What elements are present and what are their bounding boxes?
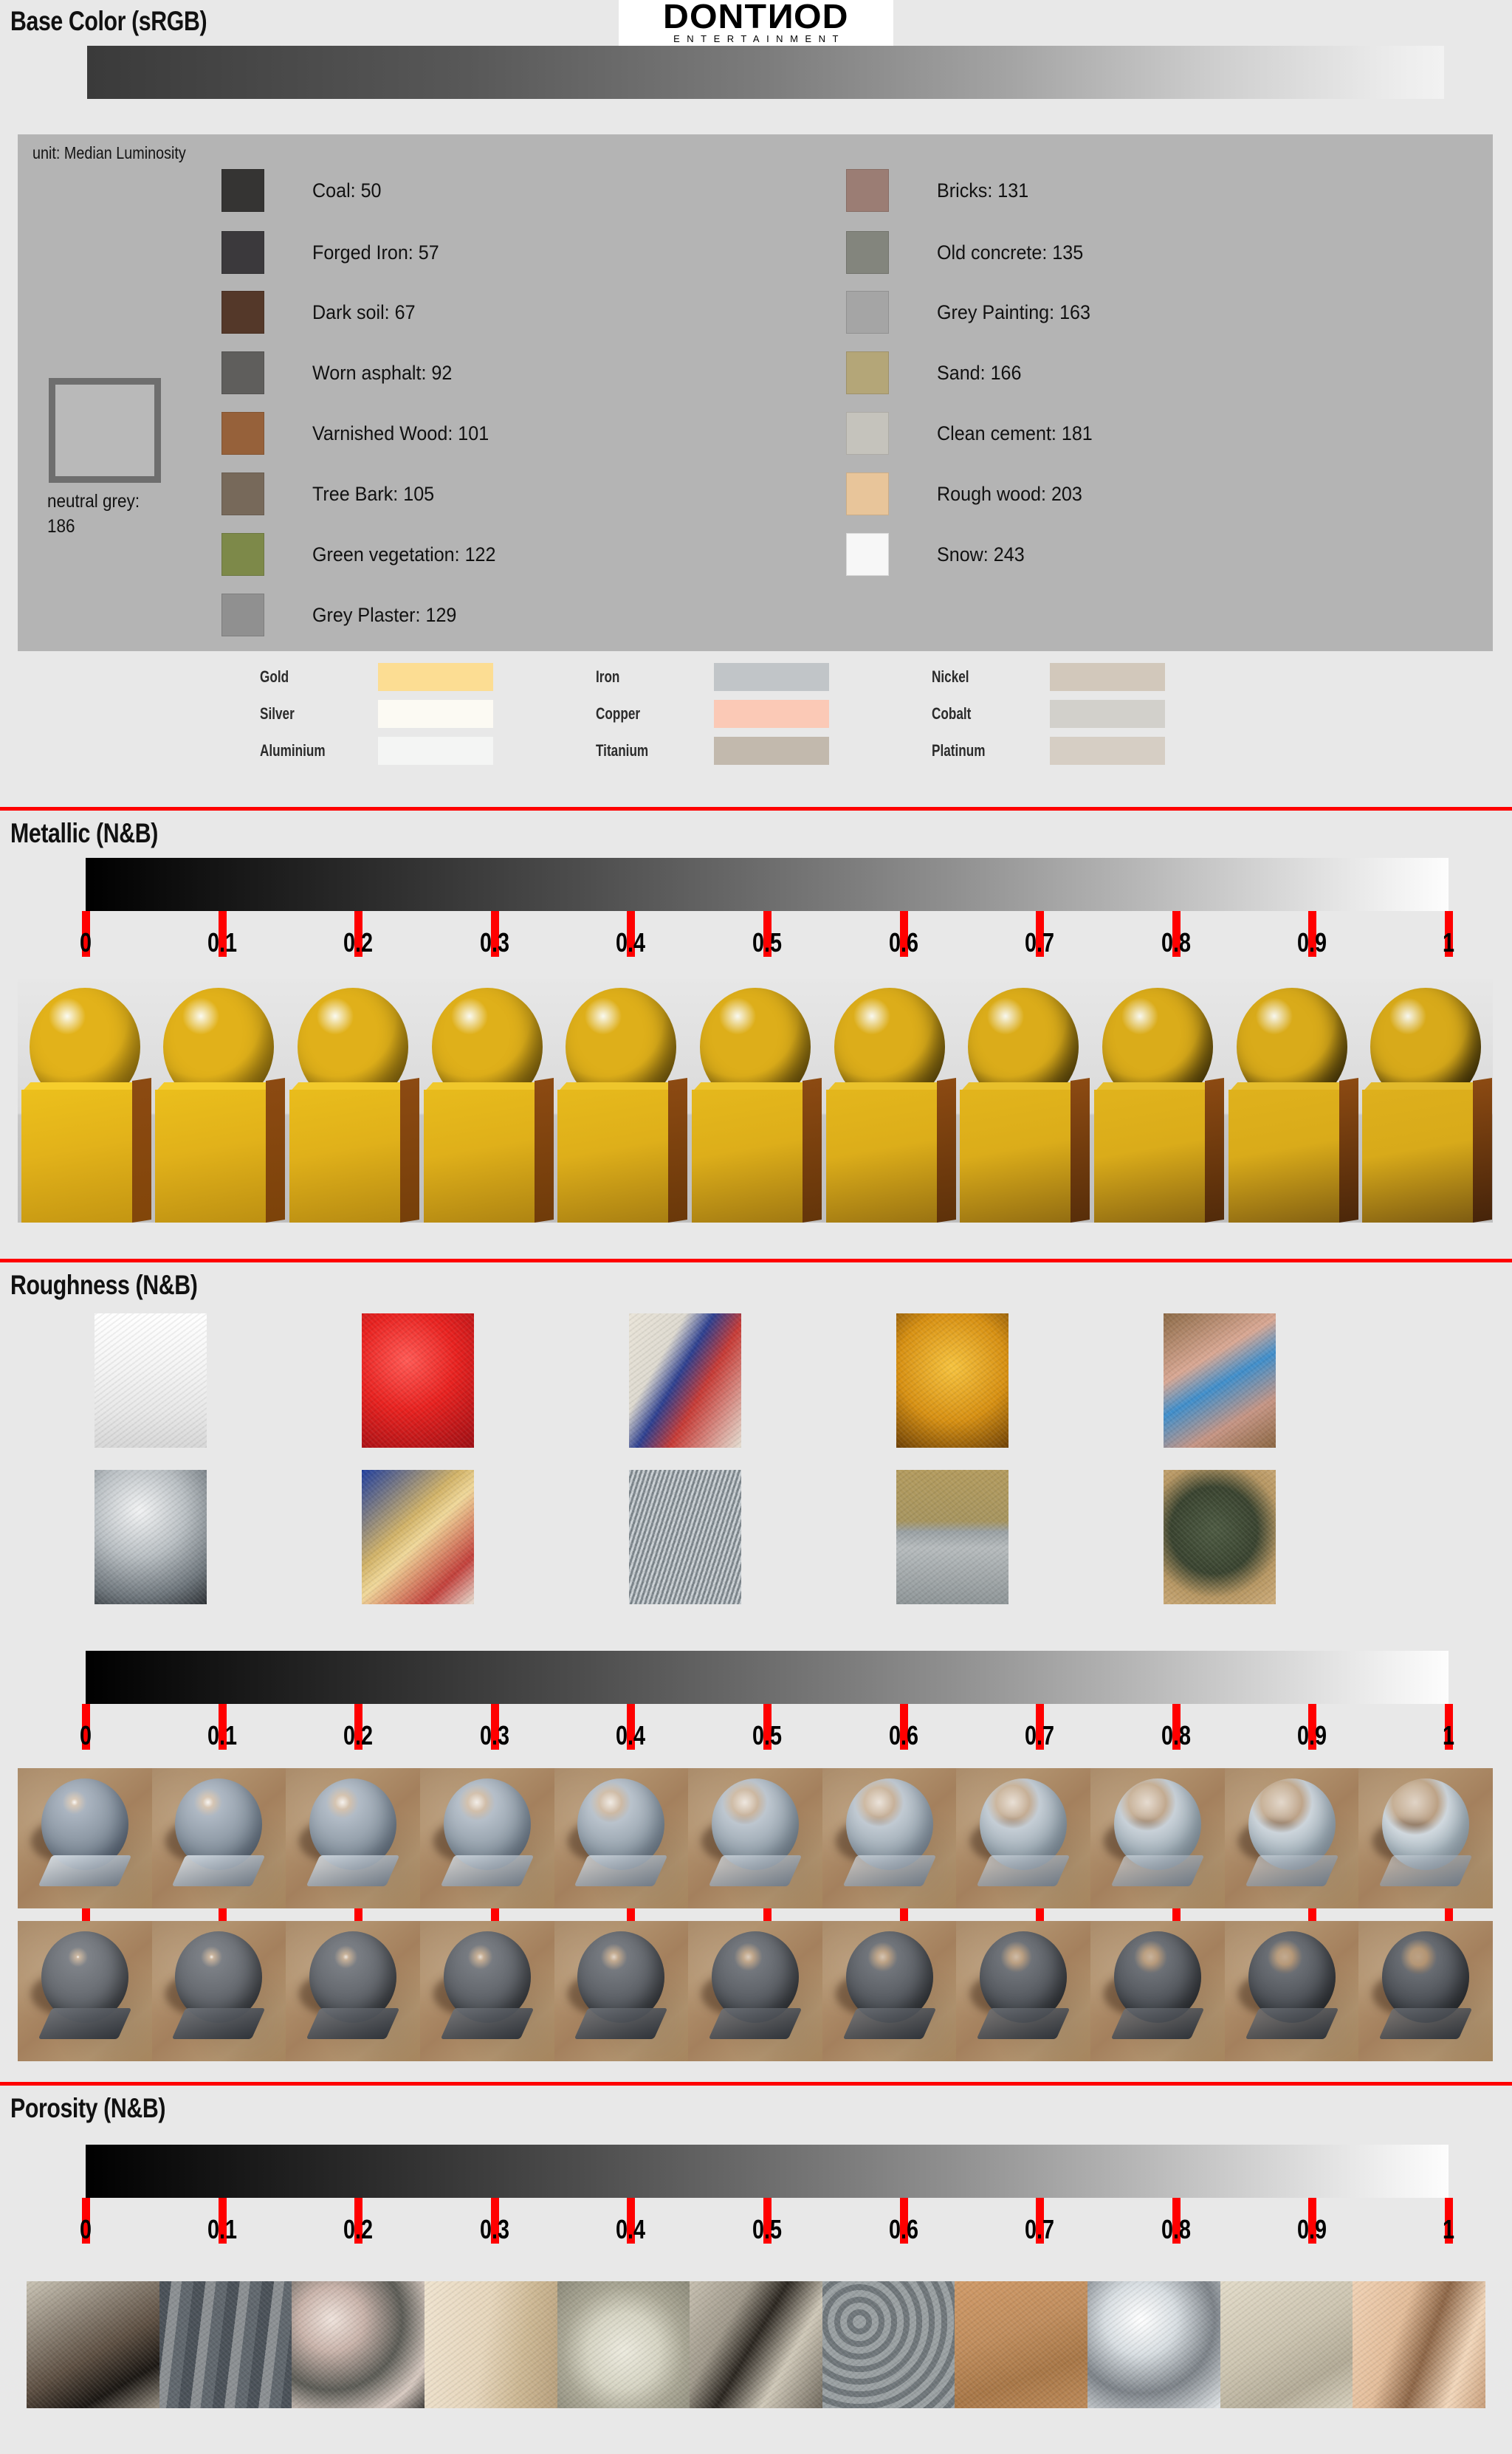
metallic-cube: [1362, 1090, 1489, 1223]
metallic-cube: [155, 1090, 282, 1223]
material-preview-plate: [1111, 2008, 1205, 2039]
scale-tick-label: 0.4: [616, 2214, 645, 2245]
roughness-non-metallic-sample: [1358, 1921, 1493, 2061]
material-preview-plate: [38, 2008, 131, 2039]
metallic-cube: [21, 1090, 148, 1223]
base-color-panel: unit: Median Luminosity neutral grey:186…: [18, 134, 1493, 651]
photo-grain: [292, 2281, 425, 2408]
roughness-non-metallic-sample: [1225, 1921, 1359, 2061]
roughness-scale-ticks: 00.10.20.30.40.50.60.70.80.91: [0, 1704, 1512, 1762]
roughness-metallic-sample: [554, 1768, 689, 1908]
metallic-cube: [424, 1090, 551, 1223]
section-title-roughness: Roughness (N&B): [10, 1270, 197, 1301]
porosity-reference-photo: [955, 2281, 1087, 2408]
roughness-non-metallic-sample: [152, 1921, 286, 2061]
metal-label: Titanium: [596, 741, 688, 760]
porosity-reference-photo: [557, 2281, 690, 2408]
cube-front-face: [692, 1090, 803, 1223]
section-title-metallic: Metallic (N&B): [10, 818, 158, 849]
photo-grain: [1353, 2281, 1485, 2408]
material-preview-plate: [172, 1855, 266, 1886]
roughness-reference-photo: [629, 1470, 741, 1604]
scale-tick-label: 0.9: [1297, 1720, 1327, 1751]
cube-front-face: [960, 1090, 1071, 1223]
scale-tick-label: 1: [1443, 927, 1454, 958]
base-color-item-dark-soil: Dark soil: 67: [221, 292, 423, 333]
metal-cobalt: Cobalt: [932, 700, 1165, 728]
metallic-cube: [1094, 1090, 1221, 1223]
material-preview-plate: [1111, 1855, 1205, 1886]
porosity-photo-strip: [27, 2281, 1485, 2408]
scale-tick-label: 0.6: [889, 1720, 918, 1751]
photo-grain: [425, 2281, 557, 2408]
section-title-porosity: Porosity (N&B): [10, 2093, 165, 2124]
metallic-sample-cell: [688, 979, 822, 1223]
roughness-metallic-sample: [152, 1768, 286, 1908]
base-color-item-varnished-wood: Varnished Wood: 101: [221, 413, 502, 454]
color-chip: [846, 412, 889, 455]
roughness-reference-photo: [896, 1470, 1008, 1604]
pbr-reference-sheet: DONTNOD ENTERTAINMENT Base Color (sRGB) …: [0, 0, 1512, 2454]
roughness-non-metallic-sample: [688, 1921, 822, 2061]
material-preview-plate: [574, 2008, 668, 2039]
porosity-reference-photo: [425, 2281, 557, 2408]
base-color-label: Grey Plaster: 129: [312, 604, 456, 627]
base-color-gradient-bar: [87, 46, 1444, 99]
metal-aluminium: Aluminium: [260, 737, 493, 765]
scale-tick-label: 0.7: [1025, 1720, 1054, 1751]
metal-chip: [378, 700, 493, 728]
cube-front-face: [1228, 1090, 1339, 1223]
photo-grain: [1164, 1470, 1276, 1604]
base-color-label: Sand: 166: [937, 362, 1021, 385]
scale-tick-label: 0.3: [480, 927, 509, 958]
roughness-metallic-sample: [688, 1768, 822, 1908]
photo-grain: [629, 1470, 741, 1604]
metallic-cube: [557, 1090, 684, 1223]
base-color-label: Bricks: 131: [937, 179, 1028, 202]
scale-tick-label: 0.8: [1161, 927, 1191, 958]
color-chip: [846, 351, 889, 394]
metallic-scale-ticks: 00.10.20.30.40.50.60.70.80.91: [0, 911, 1512, 969]
photo-grain: [557, 2281, 690, 2408]
scale-tick-label: 0.8: [1161, 2214, 1191, 2245]
roughness-reference-photo: [896, 1313, 1008, 1448]
cube-side-face: [1071, 1078, 1090, 1223]
material-preview-plate: [172, 2008, 266, 2039]
photo-grain: [955, 2281, 1087, 2408]
color-chip: [221, 412, 264, 455]
neutral-grey-label: neutral grey:186: [47, 489, 173, 539]
neutral-grey-swatch: [49, 378, 161, 483]
roughness-non-metallic-sample: [1090, 1921, 1225, 2061]
metal-titanium: Titanium: [596, 737, 829, 765]
cube-side-face: [266, 1078, 285, 1223]
material-preview-plate: [306, 2008, 400, 2039]
material-preview-plate: [38, 1855, 131, 1886]
metallic-gradient-bar: [86, 858, 1449, 911]
logo-wordmark: DONTNOD: [663, 0, 849, 32]
metal-chip: [378, 737, 493, 765]
roughness-non-metallic-sample: [286, 1921, 420, 2061]
logo-word-left: DONT: [663, 0, 767, 35]
metal-nickel: Nickel: [932, 663, 1165, 691]
porosity-gradient-bar: [86, 2145, 1449, 2198]
scale-tick-label: 0.5: [752, 1720, 782, 1751]
scale-tick-label: 1: [1443, 2214, 1454, 2245]
metallic-sample-cell: [1225, 979, 1359, 1223]
material-preview-plate: [1379, 1855, 1473, 1886]
cube-front-face: [21, 1090, 132, 1223]
photo-grain: [362, 1470, 474, 1604]
scale-tick-label: 0: [80, 2214, 92, 2245]
photo-grain: [94, 1313, 207, 1448]
roughness-gradient-bar: [86, 1651, 1449, 1704]
metallic-render-strip: [18, 979, 1493, 1223]
photo-grain: [629, 1313, 741, 1448]
color-chip: [221, 594, 264, 636]
scale-tick-label: 0.9: [1297, 2214, 1327, 2245]
porosity-reference-photo: [27, 2281, 159, 2408]
material-preview-plate: [709, 2008, 803, 2039]
scale-tick-label: 0.1: [207, 2214, 237, 2245]
material-preview-plate: [574, 1855, 668, 1886]
roughness-metallic-strip: Metallic: [18, 1768, 1493, 1908]
cube-front-face: [1094, 1090, 1205, 1223]
metal-chip: [1050, 737, 1165, 765]
metal-chip: [378, 663, 493, 691]
material-preview-plate: [440, 2008, 534, 2039]
roughness-non-metallic-sample: [554, 1921, 689, 2061]
roughness-non-metallic-sample: [18, 1921, 152, 2061]
cube-front-face: [424, 1090, 535, 1223]
base-color-item-sand: Sand: 166: [846, 352, 1028, 393]
base-color-item-tree-bark: Tree Bark: 105: [221, 473, 444, 515]
material-preview-plate: [842, 2008, 936, 2039]
roughness-metallic-sample: [286, 1768, 420, 1908]
scale-tick-label: 0.7: [1025, 927, 1054, 958]
metal-label: Gold: [260, 667, 352, 687]
metal-chip: [714, 737, 829, 765]
material-preview-plate: [440, 1855, 534, 1886]
porosity-reference-photo: [1087, 2281, 1220, 2408]
roughness-reference-photo: [94, 1313, 207, 1448]
roughness-reference-photo: [362, 1313, 474, 1448]
metallic-sample-cell: [1090, 979, 1225, 1223]
roughness-metallic-sample: [1358, 1768, 1493, 1908]
material-preview-plate: [842, 1855, 936, 1886]
cube-front-face: [826, 1090, 937, 1223]
photo-grain: [896, 1313, 1008, 1448]
section-divider-porosity: [0, 2082, 1512, 2086]
metal-reference-grid: Gold Silver Aluminium Iron Copper Titani…: [260, 663, 1220, 771]
material-preview-plate: [1245, 2008, 1339, 2039]
porosity-reference-photo: [1353, 2281, 1485, 2408]
cube-front-face: [155, 1090, 266, 1223]
metallic-sample-cell: [956, 979, 1090, 1223]
scale-tick-label: 0.4: [616, 927, 645, 958]
base-color-label: Dark soil: 67: [312, 301, 416, 324]
roughness-reference-photo: [94, 1470, 207, 1604]
metallic-cube: [289, 1090, 416, 1223]
material-preview-plate: [306, 1855, 400, 1886]
base-color-item-bricks: Bricks: 131: [846, 170, 1036, 211]
porosity-reference-photo: [690, 2281, 822, 2408]
color-chip: [221, 291, 264, 334]
base-color-label: Snow: 243: [937, 543, 1025, 566]
scale-tick-label: 0.2: [343, 1720, 373, 1751]
scale-tick-label: 0.6: [889, 927, 918, 958]
base-color-item-coal: Coal: 50: [221, 170, 387, 211]
metal-chip: [1050, 700, 1165, 728]
roughness-non-metallic-strip: Non metallic: [18, 1921, 1493, 2061]
metal-silver: Silver: [260, 700, 493, 728]
photo-grain: [94, 1470, 207, 1604]
color-chip: [221, 351, 264, 394]
photo-grain: [690, 2281, 822, 2408]
photo-grain: [27, 2281, 159, 2408]
color-chip: [846, 533, 889, 576]
metallic-cube: [960, 1090, 1087, 1223]
cube-side-face: [937, 1078, 956, 1223]
porosity-reference-photo: [292, 2281, 425, 2408]
scale-tick-label: 0.2: [343, 2214, 373, 2245]
metal-label: Silver: [260, 704, 352, 724]
base-color-item-clean-cement: Clean cement: 181: [846, 413, 1104, 454]
metallic-sample-cell: [420, 979, 554, 1223]
roughness-non-metallic-sample: [822, 1921, 957, 2061]
metallic-cube: [826, 1090, 953, 1223]
base-color-item-old-concrete: Old concrete: 135: [846, 232, 1094, 273]
base-color-label: Coal: 50: [312, 179, 382, 202]
roughness-metallic-sample: [822, 1768, 957, 1908]
metal-chip: [1050, 663, 1165, 691]
scale-tick-label: 0.3: [480, 2214, 509, 2245]
porosity-reference-photo: [159, 2281, 292, 2408]
color-chip: [221, 169, 264, 212]
section-divider-metallic: [0, 807, 1512, 811]
roughness-reference-photo: [1164, 1313, 1276, 1448]
section-divider-roughness: [0, 1259, 1512, 1262]
scale-tick-label: 0.4: [616, 1720, 645, 1751]
metallic-cube: [1228, 1090, 1355, 1223]
base-color-item-forged-iron: Forged Iron: 57: [221, 232, 449, 273]
metallic-sample-cell: [1358, 979, 1493, 1223]
scale-tick-label: 0: [80, 927, 92, 958]
material-preview-plate: [977, 2008, 1071, 2039]
base-color-label: Green vegetation: 122: [312, 543, 495, 566]
base-color-label: Old concrete: 135: [937, 241, 1083, 264]
metal-label: Iron: [596, 667, 688, 687]
color-chip: [846, 169, 889, 212]
dontnod-logo: DONTNOD ENTERTAINMENT: [619, 0, 893, 47]
scale-tick-label: 0: [80, 1720, 92, 1751]
photo-grain: [159, 2281, 292, 2408]
photo-grain: [362, 1313, 474, 1448]
material-preview-plate: [1379, 2008, 1473, 2039]
roughness-reference-photo: [362, 1470, 474, 1604]
metallic-sample-cell: [286, 979, 420, 1223]
color-chip: [221, 472, 264, 515]
roughness-non-metallic-sample: [420, 1921, 554, 2061]
color-chip: [221, 231, 264, 274]
metallic-cube: [692, 1090, 819, 1223]
cube-side-face: [1473, 1078, 1492, 1223]
base-color-label: Tree Bark: 105: [312, 483, 434, 506]
base-color-item-grey-painting: Grey Painting: 163: [846, 292, 1102, 333]
roughness-reference-photo: [1164, 1470, 1276, 1604]
cube-side-face: [400, 1078, 419, 1223]
cube-side-face: [668, 1078, 687, 1223]
base-color-item-rough-wood: Rough wood: 203: [846, 473, 1093, 515]
base-color-label: Varnished Wood: 101: [312, 422, 489, 445]
roughness-metallic-sample: [1225, 1768, 1359, 1908]
roughness-reference-photo: [629, 1313, 741, 1448]
cube-side-face: [1339, 1078, 1358, 1223]
base-color-item-grey-plaster: Grey Plaster: 129: [221, 594, 467, 636]
photo-grain: [896, 1470, 1008, 1604]
scale-tick-label: 0.5: [752, 2214, 782, 2245]
porosity-scale-ticks: 00.10.20.30.40.50.60.70.80.91: [0, 2198, 1512, 2255]
metal-label: Nickel: [932, 667, 1024, 687]
scale-tick-label: 0.5: [752, 927, 782, 958]
section-title-base-color: Base Color (sRGB): [10, 6, 207, 37]
base-color-label: Grey Painting: 163: [937, 301, 1090, 324]
logo-word-flipped-n: N: [767, 0, 794, 32]
metal-label: Copper: [596, 704, 688, 724]
scale-tick-label: 0.1: [207, 1720, 237, 1751]
metallic-sample-cell: [18, 979, 152, 1223]
material-preview-plate: [977, 1855, 1071, 1886]
metal-iron: Iron: [596, 663, 829, 691]
photo-grain: [822, 2281, 955, 2408]
metal-platinum: Platinum: [932, 737, 1165, 765]
base-color-item-snow: Snow: 243: [846, 534, 1031, 575]
roughness-metallic-sample: [1090, 1768, 1225, 1908]
color-chip: [846, 231, 889, 274]
scale-tick-label: 0.2: [343, 927, 373, 958]
cube-side-face: [535, 1078, 554, 1223]
scale-tick-label: 0.6: [889, 2214, 918, 2245]
metal-label: Cobalt: [932, 704, 1024, 724]
cube-front-face: [1362, 1090, 1473, 1223]
metallic-sample-cell: [152, 979, 286, 1223]
metallic-sample-cell: [822, 979, 957, 1223]
porosity-reference-photo: [1220, 2281, 1353, 2408]
base-color-label: Forged Iron: 57: [312, 241, 439, 264]
roughness-metallic-sample: [18, 1768, 152, 1908]
base-color-label: Rough wood: 203: [937, 483, 1082, 506]
metal-chip: [714, 663, 829, 691]
roughness-metallic-sample: [420, 1768, 554, 1908]
material-preview-plate: [1245, 1855, 1339, 1886]
cube-side-face: [1205, 1078, 1224, 1223]
photo-grain: [1087, 2281, 1220, 2408]
porosity-reference-photo: [822, 2281, 955, 2408]
scale-tick-label: 0.8: [1161, 1720, 1191, 1751]
scale-tick-label: 0.3: [480, 1720, 509, 1751]
scale-tick-label: 0.9: [1297, 927, 1327, 958]
base-color-item-worn-asphalt: Worn asphalt: 92: [221, 352, 463, 393]
base-color-item-green-vegetation: Green vegetation: 122: [221, 534, 509, 575]
base-color-unit-label: unit: Median Luminosity: [32, 143, 186, 163]
scale-tick-label: 1: [1443, 1720, 1454, 1751]
cube-front-face: [289, 1090, 400, 1223]
material-preview-plate: [709, 1855, 803, 1886]
metallic-sample-cell: [554, 979, 689, 1223]
roughness-non-metallic-sample: [956, 1921, 1090, 2061]
color-chip: [221, 533, 264, 576]
logo-word-right: OD: [794, 0, 849, 35]
color-chip: [846, 472, 889, 515]
base-color-label: Clean cement: 181: [937, 422, 1093, 445]
scale-tick-label: 0.1: [207, 927, 237, 958]
cube-front-face: [557, 1090, 668, 1223]
metal-label: Aluminium: [260, 741, 352, 760]
metal-copper: Copper: [596, 700, 829, 728]
photo-grain: [1220, 2281, 1353, 2408]
metal-chip: [714, 700, 829, 728]
photo-grain: [1164, 1313, 1276, 1448]
metal-gold: Gold: [260, 663, 493, 691]
cube-side-face: [803, 1078, 822, 1223]
color-chip: [846, 291, 889, 334]
metal-label: Platinum: [932, 741, 1024, 760]
base-color-label: Worn asphalt: 92: [312, 362, 452, 385]
scale-tick-label: 0.7: [1025, 2214, 1054, 2245]
roughness-metallic-sample: [956, 1768, 1090, 1908]
cube-side-face: [132, 1078, 151, 1223]
